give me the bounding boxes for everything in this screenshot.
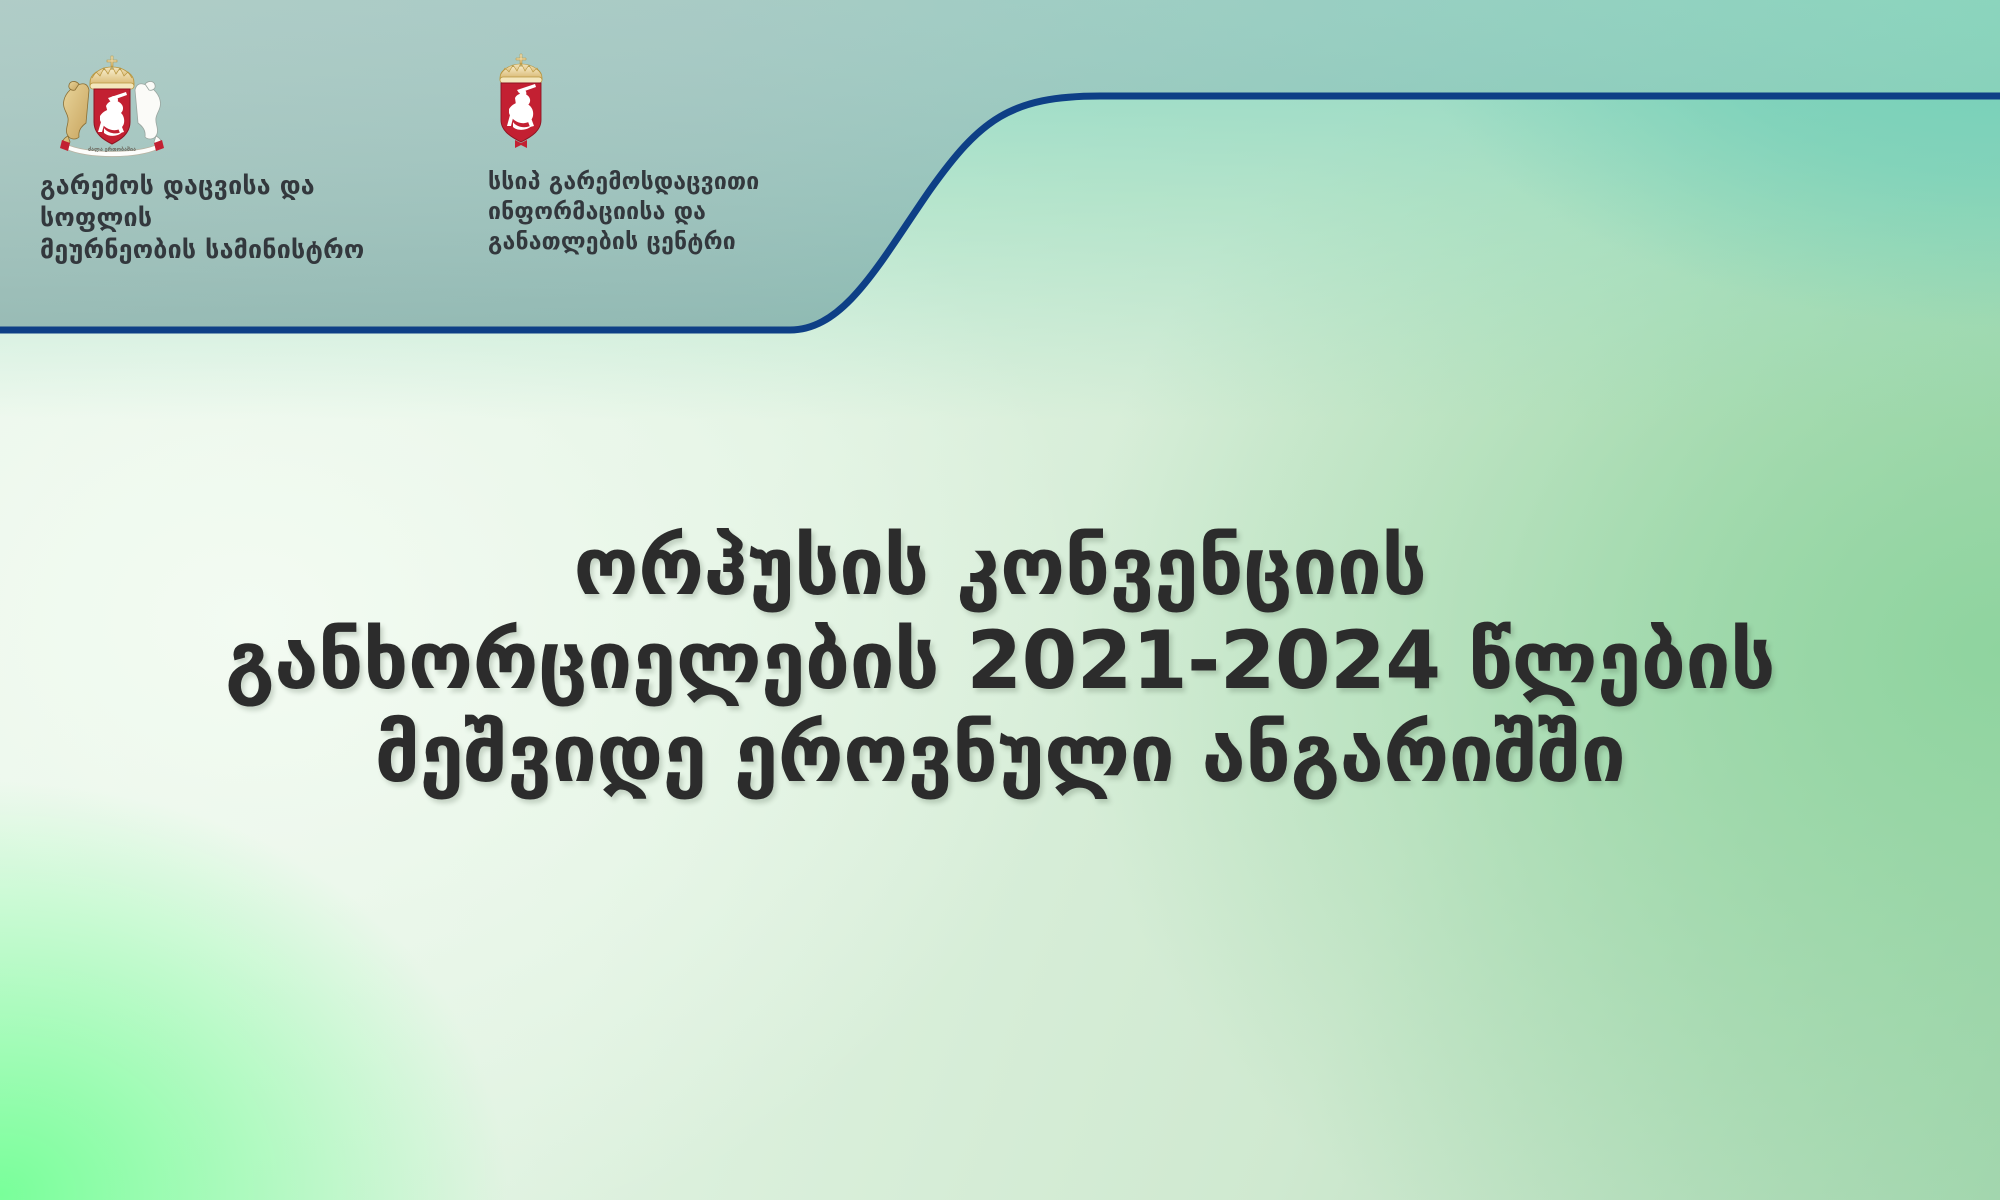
logo-center-label: სსიპ გარემოსდაცვითი ინფორმაციისა და განა…	[488, 168, 818, 258]
page-title: ორჰუსის კონვენციის განხორციელების 2021-2…	[0, 520, 2000, 801]
logo-row: ძალა ერთობაშია გარემოს დაცვისა და სოფლის…	[0, 0, 2000, 340]
georgia-shield-crown-emblem	[490, 52, 552, 150]
title-line-2: განხორციელების 2021-2024 წლების	[140, 614, 1860, 708]
logo-ministry-label: გარემოს დაცვისა და სოფლის მეურნეობის სამ…	[40, 170, 420, 266]
crown-icon	[90, 56, 134, 89]
poster-cover: ძალა ერთობაშია გარემოს დაცვისა და სოფლის…	[0, 0, 2000, 1200]
georgia-coat-of-arms-emblem: ძალა ერთობაშია	[48, 50, 176, 160]
logo-center: სსიპ გარემოსდაცვითი ინფორმაციისა და განა…	[488, 52, 818, 258]
logo-ministry: ძალა ერთობაშია გარემოს დაცვისა და სოფლის…	[40, 50, 420, 266]
title-line-1: ორჰუსის კონვენციის	[140, 520, 1860, 614]
svg-text:ძალა ერთობაშია: ძალა ერთობაშია	[88, 146, 136, 153]
crown-icon	[500, 54, 542, 83]
title-line-3: მეშვიდე ეროვნული ანგარიშში	[140, 707, 1860, 801]
